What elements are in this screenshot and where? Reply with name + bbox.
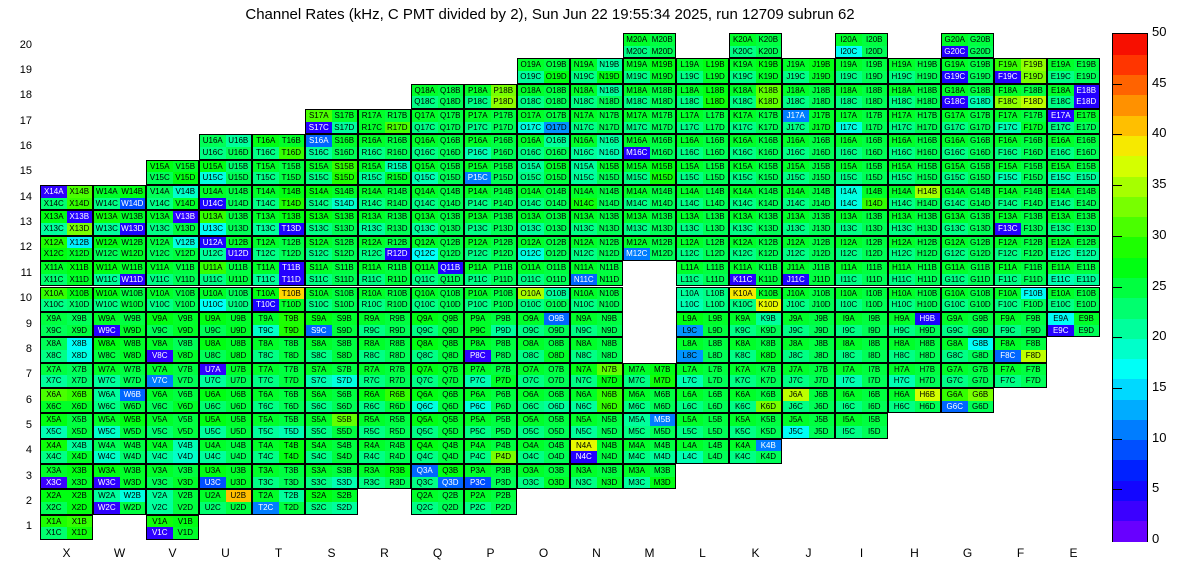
detector-cell[interactable]: T9AT9BT9CT9D [252,312,305,337]
channel-E14C[interactable]: E14C [1048,198,1074,210]
channel-Q2A[interactable]: Q2A [412,490,438,502]
channel-E11D[interactable]: E11D [1074,274,1100,286]
channel-E17A[interactable]: E17A [1048,110,1074,122]
channel-K11D[interactable]: K11D [756,274,782,286]
channel-I8B[interactable]: I8B [862,338,888,350]
channel-P15C[interactable]: P15C [465,172,491,184]
channel-N12A[interactable]: N12A [571,237,597,249]
channel-R16C[interactable]: R16C [359,147,385,159]
channel-P4B[interactable]: P4B [491,440,517,452]
channel-G14B[interactable]: G14B [968,186,994,198]
channel-G17C[interactable]: G17C [942,122,968,134]
channel-V10B[interactable]: V10B [173,288,199,300]
channel-V1C[interactable]: V1C [147,527,173,539]
channel-Q2D[interactable]: Q2D [438,502,464,514]
detector-cell[interactable]: R3AR3BR3CR3D [358,464,411,489]
detector-cell[interactable]: X14AX14BX14CX14D [40,185,93,210]
channel-X2C[interactable]: X2C [41,502,67,514]
channel-N11B[interactable]: N11B [597,262,623,274]
channel-M3B[interactable]: M3B [650,465,676,477]
channel-R15D[interactable]: R15D [385,172,411,184]
detector-cell[interactable]: J12AJ12BJ12CJ12D [782,236,835,261]
detector-cell[interactable]: O19AO19BO19CO19D [517,58,570,83]
channel-T14C[interactable]: T14C [253,198,279,210]
channel-W2C[interactable]: W2C [94,502,120,514]
channel-R9C[interactable]: R9C [359,325,385,337]
detector-cell[interactable]: Q5AQ5BQ5CQ5D [411,413,464,438]
channel-E17D[interactable]: E17D [1074,122,1100,134]
channel-M6C[interactable]: M6C [624,401,650,413]
channel-I15D[interactable]: I15D [862,172,888,184]
channel-V4B[interactable]: V4B [173,440,199,452]
channel-U9A[interactable]: U9A [200,313,226,325]
channel-I9C[interactable]: I9C [836,325,862,337]
channel-P14B[interactable]: P14B [491,186,517,198]
channel-T9A[interactable]: T9A [253,313,279,325]
detector-cell[interactable]: V9AV9BV9CV9D [146,312,199,337]
channel-U14C[interactable]: U14C [200,198,226,210]
channel-V8C[interactable]: V8C [147,350,173,362]
detector-cell[interactable]: O16AO16BO16CO16D [517,134,570,159]
channel-L10C[interactable]: L10C [677,299,703,311]
channel-V6C[interactable]: V6C [147,401,173,413]
channel-O19A[interactable]: O19A [518,59,544,71]
channel-P5D[interactable]: P5D [491,426,517,438]
channel-I13C[interactable]: I13C [836,223,862,235]
channel-K16D[interactable]: K16D [756,147,782,159]
channel-L7A[interactable]: L7A [677,364,703,376]
detector-cell[interactable]: Q10AQ10BQ10CQ10D [411,287,464,312]
channel-K9C[interactable]: K9C [730,325,756,337]
channel-X9D[interactable]: X9D [67,325,93,337]
channel-E14D[interactable]: E14D [1074,198,1100,210]
channel-J14C[interactable]: J14C [783,198,809,210]
channel-Q13C[interactable]: Q13C [412,223,438,235]
channel-M5D[interactable]: M5D [650,426,676,438]
channel-P4A[interactable]: P4A [465,440,491,452]
channel-P18D[interactable]: P18D [491,96,517,108]
channel-M12D[interactable]: M12D [650,248,676,260]
detector-cell[interactable]: F17AF17BF17CF17D [994,109,1047,134]
detector-cell[interactable]: F14AF14BF14CF14D [994,185,1047,210]
channel-N11C[interactable]: N11C [571,274,597,286]
channel-P11C[interactable]: P11C [465,274,491,286]
channel-I15C[interactable]: I15C [836,172,862,184]
channel-N5A[interactable]: N5A [571,414,597,426]
channel-V7D[interactable]: V7D [173,375,199,387]
channel-I8D[interactable]: I8D [862,350,888,362]
channel-O3B[interactable]: O3B [544,465,570,477]
channel-R7B[interactable]: R7B [385,364,411,376]
detector-cell[interactable]: L13AL13BL13CL13D [676,210,729,235]
channel-N10D[interactable]: N10D [597,299,623,311]
detector-cell[interactable]: V8AV8BV8CV8D [146,337,199,362]
channel-M6A[interactable]: M6A [624,389,650,401]
detector-cell[interactable]: L5AL5BL5CL5D [676,413,729,438]
channel-N18A[interactable]: N18A [571,85,597,97]
detector-cell[interactable]: K11AK11BK11CK11D [729,261,782,286]
channel-T15D[interactable]: T15D [279,172,305,184]
channel-H12C[interactable]: H12C [889,248,915,260]
channel-X13A[interactable]: X13A [41,211,67,223]
channel-O11D[interactable]: O11D [544,274,570,286]
channel-T15A[interactable]: T15A [253,161,279,173]
channel-K10B[interactable]: K10B [756,288,782,300]
channel-P10A[interactable]: P10A [465,288,491,300]
channel-L7B[interactable]: L7B [703,364,729,376]
channel-W3D[interactable]: W3D [120,477,146,489]
channel-P6A[interactable]: P6A [465,389,491,401]
channel-U2B[interactable]: U2B [226,490,252,502]
channel-R17B[interactable]: R17B [385,110,411,122]
detector-cell[interactable]: E17AE17BE17CE17D [1047,109,1100,134]
detector-cell[interactable]: Q4AQ4BQ4CQ4D [411,439,464,464]
channel-J12A[interactable]: J12A [783,237,809,249]
detector-cell[interactable]: J5AJ5BJ5CJ5D [782,413,835,438]
channel-Q16C[interactable]: Q16C [412,147,438,159]
channel-U6D[interactable]: U6D [226,401,252,413]
channel-P15A[interactable]: P15A [465,161,491,173]
detector-cell[interactable]: L17AL17BL17CL17D [676,109,729,134]
channel-K19A[interactable]: K19A [730,59,756,71]
detector-cell[interactable]: R13AR13BR13CR13D [358,210,411,235]
channel-R12A[interactable]: R12A [359,237,385,249]
channel-L6A[interactable]: L6A [677,389,703,401]
channel-I14A[interactable]: I14A [836,186,862,198]
channel-I14C[interactable]: I14C [836,198,862,210]
detector-cell[interactable]: K13AK13BK13CK13D [729,210,782,235]
channel-I20D[interactable]: I20D [862,46,888,58]
channel-H15C[interactable]: H15C [889,172,915,184]
detector-cell[interactable]: R17AR17BR17CR17D [358,109,411,134]
channel-O6A[interactable]: O6A [518,389,544,401]
channel-I18D[interactable]: I18D [862,96,888,108]
channel-S16C[interactable]: S16C [306,147,332,159]
channel-H11A[interactable]: H11A [889,262,915,274]
channel-F11A[interactable]: F11A [995,262,1021,274]
channel-R3D[interactable]: R3D [385,477,411,489]
channel-T14B[interactable]: T14B [279,186,305,198]
channel-R10C[interactable]: R10C [359,299,385,311]
detector-cell[interactable]: R10AR10BR10CR10D [358,287,411,312]
channel-H6C[interactable]: H6C [889,401,915,413]
channel-V5B[interactable]: V5B [173,414,199,426]
channel-G16B[interactable]: G16B [968,135,994,147]
detector-cell[interactable]: O17AO17BO17CO17D [517,109,570,134]
channel-T6A[interactable]: T6A [253,389,279,401]
channel-K10D[interactable]: K10D [756,299,782,311]
detector-cell[interactable]: I18AI18BI18CI18D [835,84,888,109]
channel-S11B[interactable]: S11B [332,262,358,274]
channel-Q6C[interactable]: Q6C [412,401,438,413]
channel-O11B[interactable]: O11B [544,262,570,274]
channel-L4C[interactable]: L4C [677,451,703,463]
channel-J6C[interactable]: J6C [783,401,809,413]
channel-S12A[interactable]: S12A [306,237,332,249]
channel-G8D[interactable]: G8D [968,350,994,362]
channel-N10B[interactable]: N10B [597,288,623,300]
channel-M14C[interactable]: M14C [624,198,650,210]
detector-cell[interactable]: L12AL12BL12CL12D [676,236,729,261]
channel-K4C[interactable]: K4C [730,451,756,463]
detector-cell[interactable]: Q2AQ2BQ2CQ2D [411,489,464,514]
channel-G10B[interactable]: G10B [968,288,994,300]
channel-W12B[interactable]: W12B [120,237,146,249]
channel-L7C[interactable]: L7C [677,375,703,387]
detector-cell[interactable]: K8AK8BK8CK8D [729,337,782,362]
detector-cell[interactable]: M6AM6BM6CM6D [623,388,676,413]
channel-V10C[interactable]: V10C [147,299,173,311]
channel-J14B[interactable]: J14B [809,186,835,198]
channel-I9A[interactable]: I9A [836,313,862,325]
channel-U9C[interactable]: U9C [200,325,226,337]
channel-U7B[interactable]: U7B [226,364,252,376]
channel-U14A[interactable]: U14A [200,186,226,198]
channel-E19C[interactable]: E19C [1048,71,1074,83]
channel-I14D[interactable]: I14D [862,198,888,210]
detector-cell[interactable]: X1AX1BX1CX1D [40,515,93,540]
detector-cell[interactable]: M12AM12BM12CM12D [623,236,676,261]
channel-P9C[interactable]: P9C [465,325,491,337]
channel-K18A[interactable]: K18A [730,85,756,97]
detector-cell[interactable]: G7AG7BG7CG7D [941,363,994,388]
channel-T5B[interactable]: T5B [279,414,305,426]
channel-V1D[interactable]: V1D [173,527,199,539]
channel-V13C[interactable]: V13C [147,223,173,235]
channel-I11B[interactable]: I11B [862,262,888,274]
channel-W5C[interactable]: W5C [94,426,120,438]
channel-T2C[interactable]: T2C [253,502,279,514]
channel-I15A[interactable]: I15A [836,161,862,173]
channel-P3B[interactable]: P3B [491,465,517,477]
channel-L5A[interactable]: L5A [677,414,703,426]
channel-G20A[interactable]: G20A [942,34,968,46]
detector-cell[interactable]: I11AI11BI11CI11D [835,261,888,286]
channel-N14D[interactable]: N14D [597,198,623,210]
channel-K14B[interactable]: K14B [756,186,782,198]
detector-cell[interactable]: E14AE14BE14CE14D [1047,185,1100,210]
channel-T8A[interactable]: T8A [253,338,279,350]
channel-N3C[interactable]: N3C [571,477,597,489]
channel-X10C[interactable]: X10C [41,299,67,311]
detector-cell[interactable]: T2AT2BT2CT2D [252,489,305,514]
channel-G17D[interactable]: G17D [968,122,994,134]
channel-O6D[interactable]: O6D [544,401,570,413]
channel-S6B[interactable]: S6B [332,389,358,401]
channel-E12B[interactable]: E12B [1074,237,1100,249]
detector-cell[interactable]: W3AW3BW3CW3D [93,464,146,489]
detector-cell[interactable]: S17AS17BS17CS17D [305,109,358,134]
channel-I16C[interactable]: I16C [836,147,862,159]
channel-X9B[interactable]: X9B [67,313,93,325]
detector-cell[interactable]: Q18AQ18BQ18CQ18D [411,84,464,109]
detector-cell[interactable]: L6AL6BL6CL6D [676,388,729,413]
channel-K14C[interactable]: K14C [730,198,756,210]
channel-S12C[interactable]: S12C [306,248,332,260]
channel-L8B[interactable]: L8B [703,338,729,350]
channel-J16B[interactable]: J16B [809,135,835,147]
detector-cell[interactable]: G13AG13BG13CG13D [941,210,994,235]
channel-U8B[interactable]: U8B [226,338,252,350]
channel-V15C[interactable]: V15C [147,172,173,184]
channel-V14B[interactable]: V14B [173,186,199,198]
channel-L16B[interactable]: L16B [703,135,729,147]
detector-cell[interactable]: N14AN14BN14CN14D [570,185,623,210]
detector-cell[interactable]: H16AH16BH16CH16D [888,134,941,159]
channel-U16A[interactable]: U16A [200,135,226,147]
channel-U6B[interactable]: U6B [226,389,252,401]
detector-cell[interactable]: T11AT11BT11CT11D [252,261,305,286]
channel-G19C[interactable]: G19C [942,71,968,83]
detector-cell[interactable]: S2AS2BS2CS2D [305,489,358,514]
channel-R15A[interactable]: R15A [359,161,385,173]
channel-E16B[interactable]: E16B [1074,135,1100,147]
channel-F15D[interactable]: F15D [1021,172,1047,184]
channel-S2A[interactable]: S2A [306,490,332,502]
detector-cell[interactable]: K19AK19BK19CK19D [729,58,782,83]
channel-R6D[interactable]: R6D [385,401,411,413]
channel-T7C[interactable]: T7C [253,375,279,387]
channel-R7D[interactable]: R7D [385,375,411,387]
detector-cell[interactable]: V2AV2BV2CV2D [146,489,199,514]
detector-cell[interactable]: F18AF18BF18CF18D [994,84,1047,109]
channel-N11D[interactable]: N11D [597,274,623,286]
channel-K6A[interactable]: K6A [730,389,756,401]
detector-cell[interactable]: U14AU14BU14CU14D [199,185,252,210]
channel-U9B[interactable]: U9B [226,313,252,325]
detector-cell[interactable]: E13AE13BE13CE13D [1047,210,1100,235]
channel-X11C[interactable]: X11C [41,274,67,286]
channel-S14B[interactable]: S14B [332,186,358,198]
channel-T16D[interactable]: T16D [279,147,305,159]
detector-cell[interactable]: J7AJ7BJ7CJ7D [782,363,835,388]
detector-cell[interactable]: K7AK7BK7CK7D [729,363,782,388]
channel-N7A[interactable]: N7A [571,364,597,376]
channel-J19C[interactable]: J19C [783,71,809,83]
channel-R8C[interactable]: R8C [359,350,385,362]
channel-G16D[interactable]: G16D [968,147,994,159]
channel-T12B[interactable]: T12B [279,237,305,249]
channel-H8A[interactable]: H8A [889,338,915,350]
channel-J17A[interactable]: J17A [783,110,809,122]
channel-X12B[interactable]: X12B [67,237,93,249]
channel-Q8A[interactable]: Q8A [412,338,438,350]
channel-N11A[interactable]: N11A [571,262,597,274]
channel-J10C[interactable]: J10C [783,299,809,311]
channel-X14C[interactable]: X14C [41,198,67,210]
channel-I14B[interactable]: I14B [862,186,888,198]
channel-P12B[interactable]: P12B [491,237,517,249]
channel-S3C[interactable]: S3C [306,477,332,489]
channel-O13B[interactable]: O13B [544,211,570,223]
channel-F14D[interactable]: F14D [1021,198,1047,210]
channel-Q14C[interactable]: Q14C [412,198,438,210]
channel-I20C[interactable]: I20C [836,46,862,58]
detector-cell[interactable]: T15AT15BT15CT15D [252,160,305,185]
detector-cell[interactable]: Q3AQ3BQ3CQ3D [411,464,464,489]
detector-cell[interactable]: M18AM18BM18CM18D [623,84,676,109]
channel-R5A[interactable]: R5A [359,414,385,426]
channel-K7D[interactable]: K7D [756,375,782,387]
channel-G7A[interactable]: G7A [942,364,968,376]
channel-P9B[interactable]: P9B [491,313,517,325]
channel-U13A[interactable]: U13A [200,211,226,223]
channel-E10C[interactable]: E10C [1048,299,1074,311]
channel-M16A[interactable]: M16A [624,135,650,147]
channel-V3A[interactable]: V3A [147,465,173,477]
channel-Q9C[interactable]: Q9C [412,325,438,337]
detector-cell[interactable]: H6AH6BH6CH6D [888,388,941,413]
channel-E16A[interactable]: E16A [1048,135,1074,147]
channel-O15A[interactable]: O15A [518,161,544,173]
channel-I13B[interactable]: I13B [862,211,888,223]
channel-O4D[interactable]: O4D [544,451,570,463]
detector-cell[interactable]: R4AR4BR4CR4D [358,439,411,464]
channel-E10A[interactable]: E10A [1048,288,1074,300]
channel-N3B[interactable]: N3B [597,465,623,477]
detector-cell[interactable]: P7AP7BP7CP7D [464,363,517,388]
detector-cell[interactable]: V4AV4BV4CV4D [146,439,199,464]
channel-L9D[interactable]: L9D [703,325,729,337]
channel-N9A[interactable]: N9A [571,313,597,325]
channel-U12C[interactable]: U12C [200,248,226,260]
channel-U7A[interactable]: U7A [200,364,226,376]
channel-M7A[interactable]: M7A [624,364,650,376]
detector-cell[interactable]: P11AP11BP11CP11D [464,261,517,286]
channel-T11D[interactable]: T11D [279,274,305,286]
channel-O17B[interactable]: O17B [544,110,570,122]
channel-V13A[interactable]: V13A [147,211,173,223]
channel-S5A[interactable]: S5A [306,414,332,426]
channel-M14B[interactable]: M14B [650,186,676,198]
channel-S5B[interactable]: S5B [332,414,358,426]
channel-G6A[interactable]: G6A [942,389,968,401]
channel-Q18D[interactable]: Q18D [438,96,464,108]
channel-O17C[interactable]: O17C [518,122,544,134]
channel-X1C[interactable]: X1C [41,527,67,539]
detector-cell[interactable]: W8AW8BW8CW8D [93,337,146,362]
channel-X7C[interactable]: X7C [41,375,67,387]
channel-R11B[interactable]: R11B [385,262,411,274]
detector-cell[interactable]: O12AO12BO12CO12D [517,236,570,261]
detector-cell[interactable]: G19AG19BG19CG19D [941,58,994,83]
channel-G13D[interactable]: G13D [968,223,994,235]
channel-N13D[interactable]: N13D [597,223,623,235]
channel-P13A[interactable]: P13A [465,211,491,223]
channel-W8A[interactable]: W8A [94,338,120,350]
channel-J13B[interactable]: J13B [809,211,835,223]
channel-N7B[interactable]: N7B [597,364,623,376]
detector-cell[interactable]: K5AK5BK5CK5D [729,413,782,438]
channel-I12B[interactable]: I12B [862,237,888,249]
channel-R7A[interactable]: R7A [359,364,385,376]
channel-U5B[interactable]: U5B [226,414,252,426]
channel-L17D[interactable]: L17D [703,122,729,134]
channel-S7D[interactable]: S7D [332,375,358,387]
channel-S9D[interactable]: S9D [332,325,358,337]
channel-M20D[interactable]: M20D [650,46,676,58]
channel-T5C[interactable]: T5C [253,426,279,438]
detector-cell[interactable]: M17AM17BM17CM17D [623,109,676,134]
channel-T3C[interactable]: T3C [253,477,279,489]
channel-I10A[interactable]: I10A [836,288,862,300]
channel-V5A[interactable]: V5A [147,414,173,426]
detector-cell[interactable]: E15AE15BE15CE15D [1047,160,1100,185]
channel-F13D[interactable]: F13D [1021,223,1047,235]
detector-cell[interactable]: M5AM5BM5CM5D [623,413,676,438]
channel-F7B[interactable]: F7B [1021,364,1047,376]
channel-K14D[interactable]: K14D [756,198,782,210]
